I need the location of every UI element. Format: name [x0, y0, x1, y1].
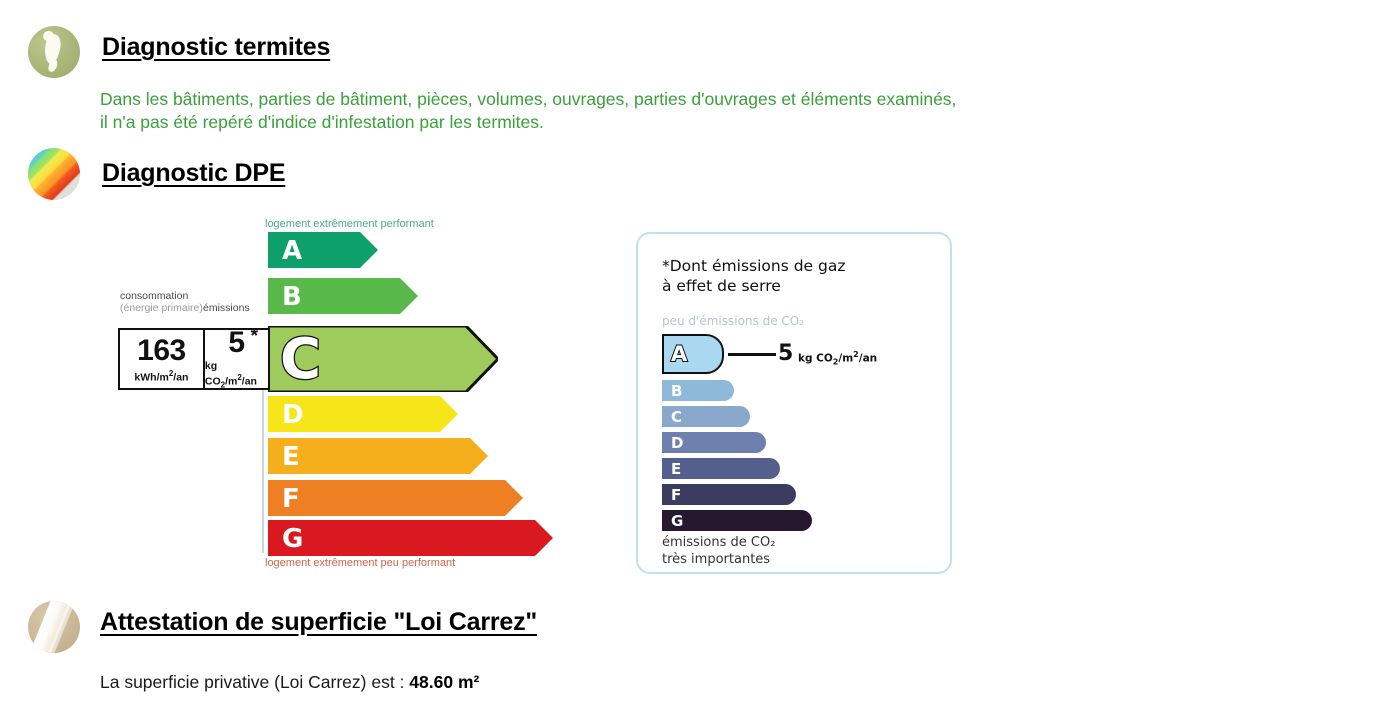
energy-bar-E-shape: [268, 438, 488, 474]
co2-bar-F: F: [662, 484, 796, 505]
co2-bar-D: D: [662, 432, 766, 453]
carrez-surface-value: 48.60 m²: [409, 672, 479, 692]
co2-bar-D-letter: D: [671, 434, 683, 452]
energy-scale-bottom-note: logement extrêmement peu performant: [265, 557, 455, 569]
energy-bar-E: E: [268, 438, 488, 474]
energy-bar-D-letter: D: [282, 402, 304, 428]
co2-bar-B: B: [662, 380, 734, 401]
energy-bar-C: C: [268, 326, 498, 392]
energy-bar-B: B: [268, 278, 418, 314]
energy-bar-A-letter: A: [282, 238, 302, 264]
co2-bar-A: A: [662, 334, 724, 374]
rainbow-icon-stripes: [28, 148, 80, 200]
co2-value: 5: [778, 341, 793, 366]
co2-leader-line: [728, 353, 776, 356]
co2-emissions-panel: *Dont émissions de gaz à effet de serre …: [636, 232, 952, 574]
emissions-header: émissions: [203, 302, 250, 314]
co2-scale-bottom-note-line-1: émissions de CO₂: [662, 534, 775, 551]
consumption-cell: 163 kWh/m2/an: [120, 330, 203, 388]
page-title-dpe: Diagnostic DPE: [102, 159, 285, 188]
energy-bar-B-letter: B: [282, 284, 302, 310]
energy-bar-D: D: [268, 396, 458, 432]
consumption-header-line-2: (énergie primaire): [120, 302, 203, 314]
emissions-cell: 5* kg CO2/m2/an: [203, 330, 268, 388]
dpe-value-box: 163 kWh/m2/an 5* kg CO2/m2/an: [118, 328, 270, 390]
section-attestation-loi-carrez: Attestation de superficie "Loi Carrez" L…: [0, 0, 52, 52]
co2-panel-title: *Dont émissions de gaz à effet de serre: [662, 256, 845, 296]
emission-value-wrap: 5*: [228, 327, 244, 359]
co2-scale-bottom-note-line-2: très importantes: [662, 551, 775, 568]
carrez-surface-prefix: La superficie privative (Loi Carrez) est…: [100, 672, 409, 692]
co2-bar-F-letter: F: [671, 486, 681, 504]
emission-unit: kg CO2/m2/an: [205, 360, 268, 392]
energy-scale-top-note: logement extrêmement performant: [265, 218, 434, 230]
consumption-unit: kWh/m2/an: [134, 368, 188, 384]
emission-asterisk: *: [251, 321, 258, 353]
dpe-figure: logement extrêmement performant logement…: [0, 200, 1000, 580]
energy-bar-G-shape: [268, 520, 553, 556]
co2-bar-G-letter: G: [671, 512, 683, 530]
co2-bar-G: G: [662, 510, 812, 531]
energy-bar-G: G: [268, 520, 553, 556]
co2-bar-B-letter: B: [671, 382, 682, 400]
termites-text-line-2: il n'a pas été repéré d'indice d'infesta…: [100, 111, 544, 134]
consumption-header: consommation (énergie primaire): [120, 290, 203, 314]
page-title-carrez: Attestation de superficie "Loi Carrez": [100, 608, 537, 637]
co2-bar-C: C: [662, 406, 750, 427]
energy-bar-E-letter: E: [282, 444, 300, 470]
co2-unit: kg CO2/m2/an: [798, 350, 877, 367]
co2-bar-E: E: [662, 458, 780, 479]
energy-scale-axis-line: [262, 388, 264, 553]
tape-measure-icon: [28, 601, 80, 653]
energy-bar-A: A: [268, 232, 378, 268]
energy-bar-C-letter: C: [280, 332, 321, 388]
co2-scale-bottom-note: émissions de CO₂ très importantes: [662, 534, 775, 568]
co2-bar-C-letter: C: [671, 408, 682, 426]
rainbow-icon: [28, 148, 80, 200]
energy-bar-G-letter: G: [282, 526, 303, 552]
termites-text-line-1: Dans les bâtiments, parties de bâtiment,…: [100, 88, 956, 111]
co2-panel-title-line-2: à effet de serre: [662, 276, 845, 296]
page-title-termites: Diagnostic termites: [102, 33, 330, 62]
emission-value: 5: [228, 326, 244, 359]
energy-bar-F-shape: [268, 480, 523, 516]
consumption-value: 163: [137, 335, 186, 367]
co2-bar-E-letter: E: [671, 460, 681, 478]
energy-bar-F: F: [268, 480, 523, 516]
consumption-header-line-1: consommation: [120, 290, 203, 302]
carrez-surface-text: La superficie privative (Loi Carrez) est…: [100, 672, 479, 693]
co2-bar-A-letter: A: [671, 342, 687, 366]
co2-scale-top-note: peu d'émissions de CO₂: [662, 314, 804, 328]
energy-bar-F-letter: F: [282, 486, 300, 512]
co2-panel-title-line-1: *Dont émissions de gaz: [662, 256, 845, 276]
